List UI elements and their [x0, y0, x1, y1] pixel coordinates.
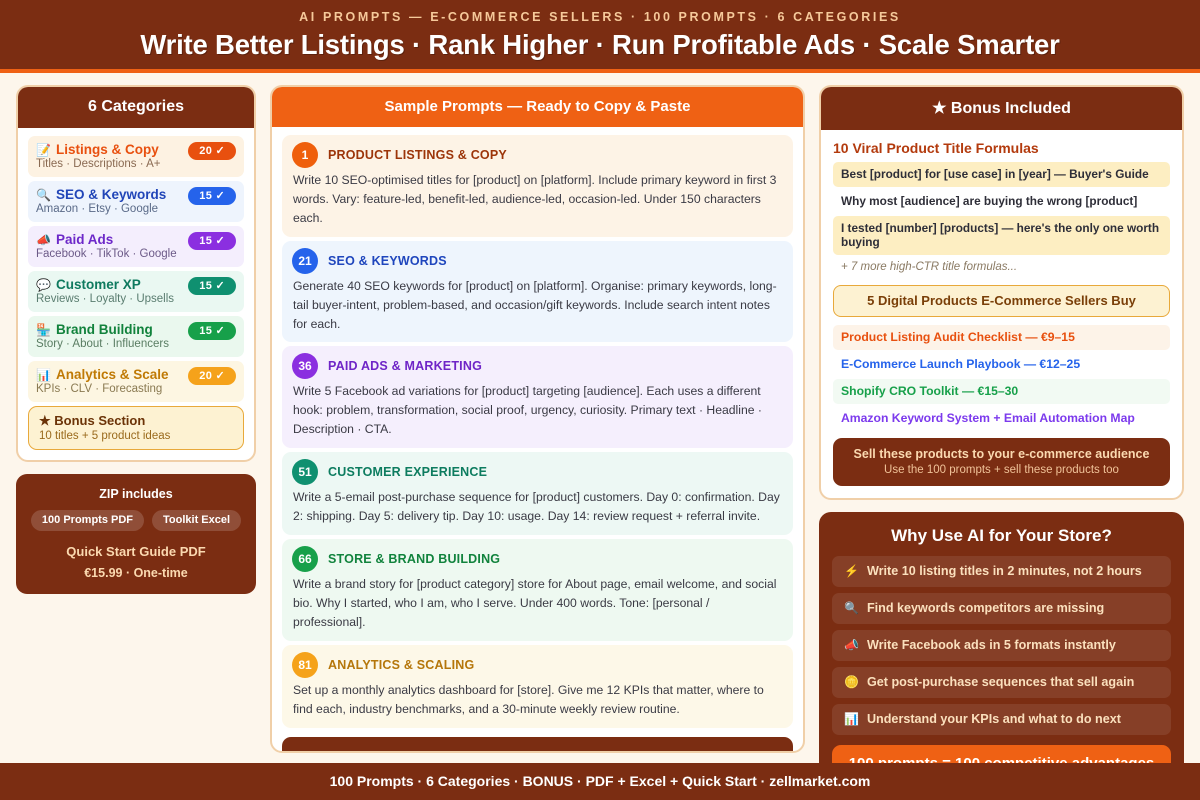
prompt-title: PRODUCT LISTINGS & COPY	[328, 148, 507, 162]
prompts-panel: Sample Prompts — Ready to Copy & Paste 1…	[270, 85, 805, 753]
digital-products-list: Product Listing Audit Checklist — €9–15E…	[833, 325, 1170, 431]
bar-chart-icon: 📊	[36, 369, 51, 381]
page-footer: 100 Prompts · 6 Categories · BONUS · PDF…	[0, 763, 1200, 800]
why-use-ai-row: 🔍Find keywords competitors are missing	[832, 593, 1171, 624]
prompt-text: Generate 40 SEO keywords for [product] o…	[292, 277, 783, 334]
page-title: Write Better Listings · Rank Higher · Ru…	[0, 29, 1200, 61]
prompt-text: Set up a monthly analytics dashboard for…	[292, 681, 783, 719]
storefront-icon: 🏪	[36, 324, 51, 336]
bonus-heading: ★ Bonus Included	[821, 87, 1182, 130]
category-row[interactable]: 💬Customer XPReviews · Loyalty · Upsells1…	[28, 271, 244, 312]
prompts-heading: Sample Prompts — Ready to Copy & Paste	[272, 87, 803, 127]
prompt-title: PAID ADS & MARKETING	[328, 359, 482, 373]
sell-products-sub: Use the 100 prompts + sell these product…	[841, 464, 1162, 476]
prompt-title: SEO & KEYWORDS	[328, 254, 447, 268]
why-use-ai-row: ⚡Write 10 listing titles in 2 minutes, n…	[832, 556, 1171, 587]
prompt-card[interactable]: 1PRODUCT LISTINGS & COPYWrite 10 SEO-opt…	[282, 135, 793, 237]
why-use-ai-row: 📊Understand your KPIs and what to do nex…	[832, 704, 1171, 735]
title-formula-row: Why most [audience] are buying the wrong…	[833, 189, 1170, 214]
prompt-card[interactable]: 51CUSTOMER EXPERIENCEWrite a 5-email pos…	[282, 452, 793, 535]
category-name: Analytics & Scale	[56, 367, 169, 382]
prompt-number-badge: 21	[292, 248, 318, 274]
magnifier-icon: 🔍	[36, 189, 51, 201]
prompt-text: Write 10 SEO-optimised titles for [produ…	[292, 171, 783, 228]
prompt-number-badge: 1	[292, 142, 318, 168]
prompt-card[interactable]: 81ANALYTICS & SCALINGSet up a monthly an…	[282, 645, 793, 728]
header-kicker: AI PROMPTS — E-COMMERCE SELLERS · 100 PR…	[0, 10, 1200, 24]
magnifier-icon: 🔍	[844, 602, 859, 614]
categories-heading: 6 Categories	[18, 87, 254, 128]
prompt-number-badge: 81	[292, 652, 318, 678]
why-use-ai-card: Why Use AI for Your Store? ⚡Write 10 lis…	[819, 512, 1184, 800]
why-use-ai-row-text: Find keywords competitors are missing	[867, 601, 1104, 615]
bonus-chip-title: ★ Bonus Section	[39, 413, 233, 429]
digital-product-row: E-Commerce Launch Playbook — €12–25	[833, 352, 1170, 377]
main-body: 6 Categories 📝Listings & CopyTitles · De…	[0, 73, 1200, 763]
digital-product-row: Shopify CRO Toolkit — €15–30	[833, 379, 1170, 404]
prompt-text: Write a brand story for [product categor…	[292, 575, 783, 632]
zip-price: €15.99 · One-time	[28, 566, 244, 580]
why-use-ai-row-text: Understand your KPIs and what to do next	[867, 712, 1121, 726]
digital-product-row: Product Listing Audit Checklist — €9–15	[833, 325, 1170, 350]
prompt-text: Write a 5-email post-purchase sequence f…	[292, 488, 783, 526]
category-row[interactable]: 🏪Brand BuildingStory · About · Influence…	[28, 316, 244, 357]
prompt-head: 1PRODUCT LISTINGS & COPY	[292, 142, 783, 168]
formulas-more-note: + 7 more high-CTR title formulas...	[833, 257, 1170, 279]
page-header: AI PROMPTS — E-COMMERCE SELLERS · 100 PR…	[0, 0, 1200, 73]
category-count-badge: 15 ✓	[188, 322, 236, 340]
poster-root: AI PROMPTS — E-COMMERCE SELLERS · 100 PR…	[0, 0, 1200, 800]
prompt-head: 66STORE & BRAND BUILDING	[292, 546, 783, 572]
digital-products-title: 5 Digital Products E-Commerce Sellers Bu…	[833, 285, 1170, 317]
title-formula-row: Best [product] for [use case] in [year] …	[833, 162, 1170, 187]
category-name: SEO & Keywords	[56, 187, 166, 202]
prompt-text: Write 5 Facebook ad variations for [prod…	[292, 382, 783, 439]
category-name: Paid Ads	[56, 232, 113, 247]
bonus-section-chip[interactable]: ★ Bonus Section10 titles + 5 product ide…	[28, 406, 244, 450]
prompt-title: CUSTOMER EXPERIENCE	[328, 465, 487, 479]
prompt-head: 36PAID ADS & MARKETING	[292, 353, 783, 379]
zip-title: ZIP includes	[28, 487, 244, 501]
category-count-badge: 15 ✓	[188, 277, 236, 295]
prompt-card[interactable]: 21SEO & KEYWORDSGenerate 40 SEO keywords…	[282, 241, 793, 343]
category-row[interactable]: 📣Paid AdsFacebook · TikTok · Google15 ✓	[28, 226, 244, 267]
category-name: Customer XP	[56, 277, 141, 292]
category-count-badge: 15 ✓	[188, 187, 236, 205]
formulas-list: Best [product] for [use case] in [year] …	[833, 162, 1170, 255]
why-use-ai-title: Why Use AI for Your Store?	[832, 526, 1171, 546]
bonus-body: 10 Viral Product Title Formulas Best [pr…	[821, 130, 1182, 498]
megaphone-icon: 📣	[844, 639, 859, 651]
zip-includes-card: ZIP includes 100 Prompts PDFToolkit Exce…	[16, 474, 256, 594]
formulas-title: 10 Viral Product Title Formulas	[833, 140, 1170, 156]
digital-product-row: Amazon Keyword System + Email Automation…	[833, 406, 1170, 431]
zip-pill: Toolkit Excel	[152, 510, 241, 531]
bar-chart-icon: 📊	[844, 713, 859, 725]
zip-quick-start: Quick Start Guide PDF	[28, 544, 244, 559]
lightning-icon: ⚡	[844, 565, 859, 577]
prompt-title: ANALYTICS & SCALING	[328, 658, 474, 672]
categories-column: 6 Categories 📝Listings & CopyTitles · De…	[16, 85, 256, 753]
category-count-badge: 20 ✓	[188, 142, 236, 160]
why-use-ai-row: 🪙Get post-purchase sequences that sell a…	[832, 667, 1171, 698]
why-use-ai-row-text: Write 10 listing titles in 2 minutes, no…	[867, 564, 1142, 578]
prompt-head: 81ANALYTICS & SCALING	[292, 652, 783, 678]
prompt-number-badge: 51	[292, 459, 318, 485]
category-name: Listings & Copy	[56, 142, 159, 157]
sell-products-card: Sell these products to your e-commerce a…	[833, 438, 1170, 486]
title-formula-row: I tested [number] [products] — here's th…	[833, 216, 1170, 255]
zip-pills: 100 Prompts PDFToolkit Excel	[28, 510, 244, 531]
megaphone-icon: 📣	[36, 234, 51, 246]
prompt-head: 21SEO & KEYWORDS	[292, 248, 783, 274]
prompt-card[interactable]: 66STORE & BRAND BUILDINGWrite a brand st…	[282, 539, 793, 641]
why-use-ai-row-text: Write Facebook ads in 5 formats instantl…	[867, 638, 1116, 652]
bonus-column: ★ Bonus Included 10 Viral Product Title …	[819, 85, 1184, 753]
bonus-panel: ★ Bonus Included 10 Viral Product Title …	[819, 85, 1184, 500]
category-row[interactable]: 🔍SEO & KeywordsAmazon · Etsy · Google15 …	[28, 181, 244, 222]
memo-icon: 📝	[36, 144, 51, 156]
category-count-badge: 20 ✓	[188, 367, 236, 385]
bonus-chip-sub: 10 titles + 5 product ideas	[39, 430, 233, 442]
category-count-badge: 15 ✓	[188, 232, 236, 250]
why-use-ai-row-text: Get post-purchase sequences that sell ag…	[867, 675, 1134, 689]
prompts-list: 1PRODUCT LISTINGS & COPYWrite 10 SEO-opt…	[272, 127, 803, 753]
prompts-column: Sample Prompts — Ready to Copy & Paste 1…	[270, 85, 805, 753]
prompt-head: 51CUSTOMER EXPERIENCE	[292, 459, 783, 485]
category-name: Brand Building	[56, 322, 153, 337]
categories-list: 📝Listings & CopyTitles · Descriptions · …	[18, 128, 254, 460]
sell-products-title: Sell these products to your e-commerce a…	[841, 447, 1162, 461]
prompt-number-badge: 66	[292, 546, 318, 572]
category-row[interactable]: 📊Analytics & ScaleKPIs · CLV · Forecasti…	[28, 361, 244, 402]
speech-bubble-icon: 💬	[36, 279, 51, 291]
why-use-ai-list: ⚡Write 10 listing titles in 2 minutes, n…	[832, 556, 1171, 741]
why-use-ai-row: 📣Write Facebook ads in 5 formats instant…	[832, 630, 1171, 661]
category-row[interactable]: 📝Listings & CopyTitles · Descriptions · …	[28, 136, 244, 177]
coin-icon: 🪙	[844, 676, 859, 688]
categories-panel: 6 Categories 📝Listings & CopyTitles · De…	[16, 85, 256, 462]
prompt-card[interactable]: 36PAID ADS & MARKETINGWrite 5 Facebook a…	[282, 346, 793, 448]
zip-pill: 100 Prompts PDF	[31, 510, 144, 531]
prompt-title: STORE & BRAND BUILDING	[328, 552, 500, 566]
prompt-number-badge: 36	[292, 353, 318, 379]
prompts-footer-banner: 100 prompts · 6 categories · BONUS secti…	[282, 737, 793, 754]
